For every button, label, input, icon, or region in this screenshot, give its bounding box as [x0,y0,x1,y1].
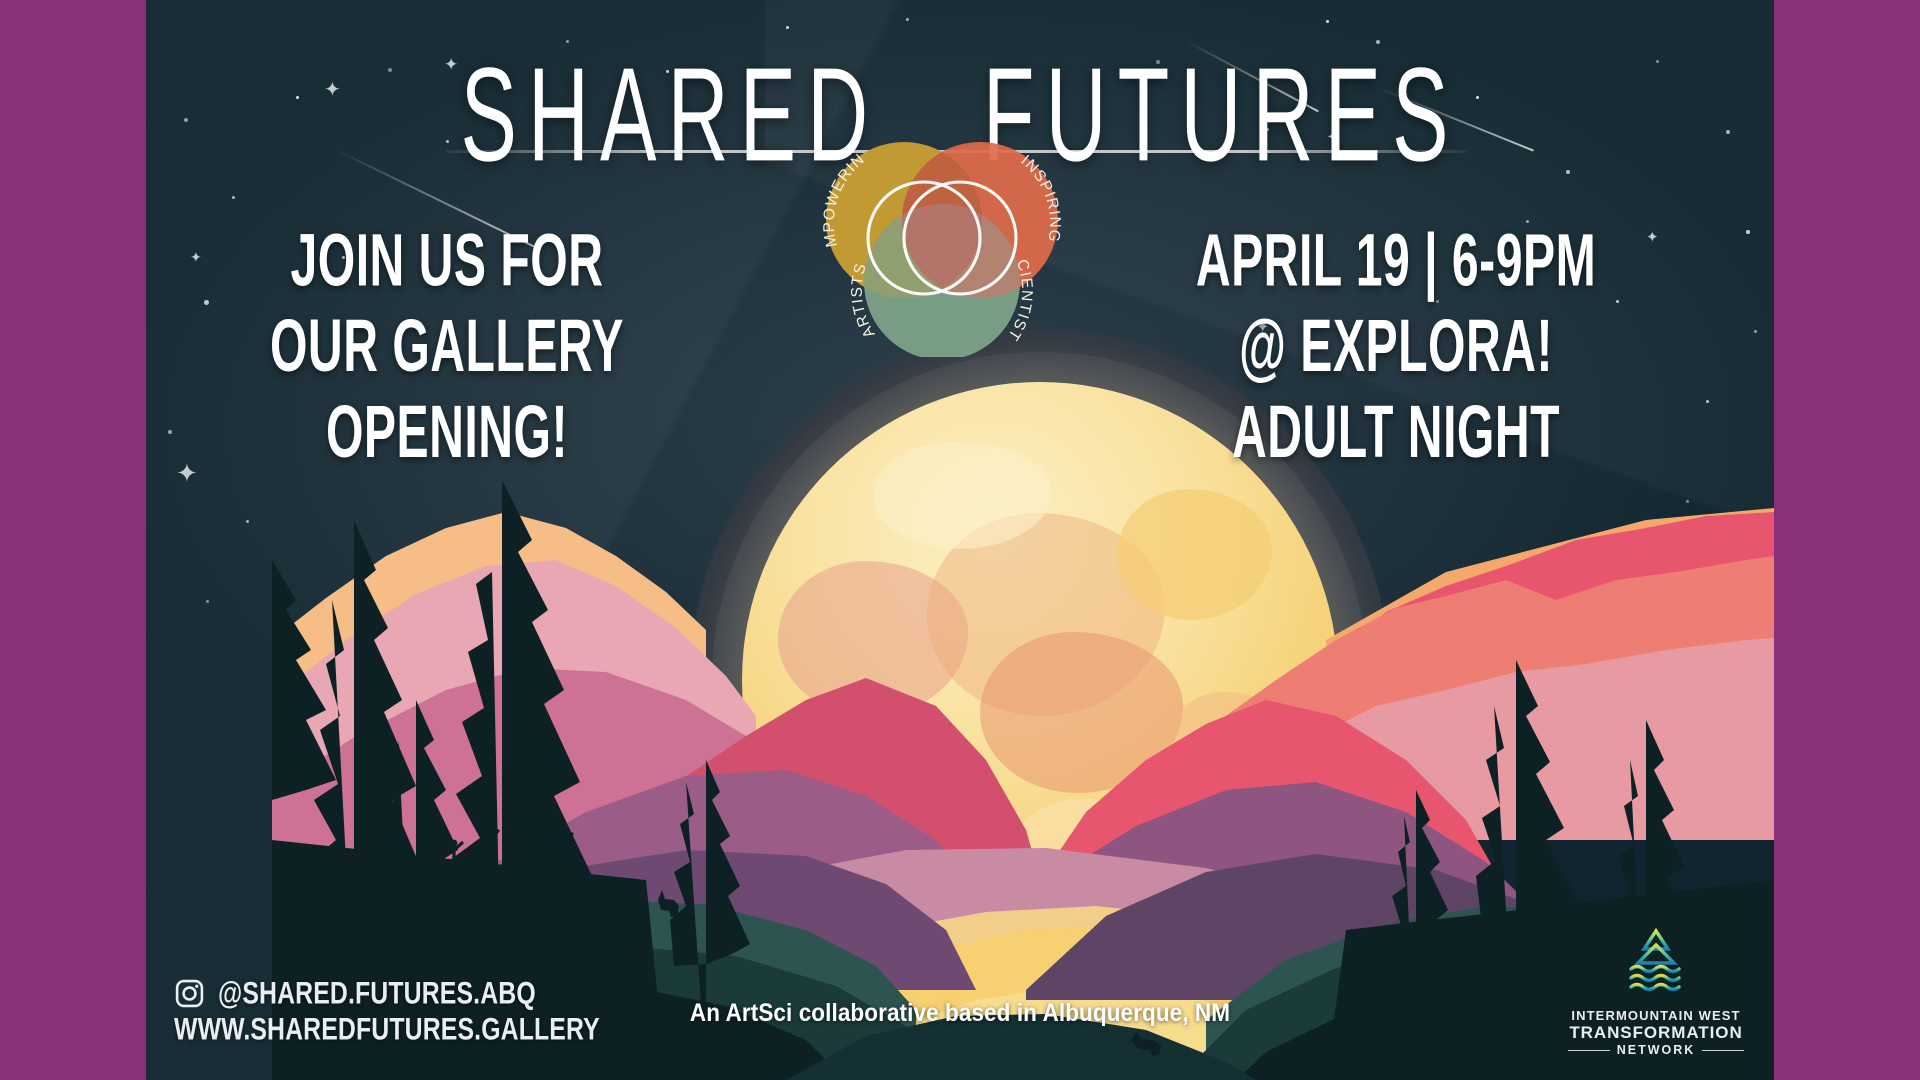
website-row[interactable]: WWW.SHAREDFUTURES.GALLERY [174,1014,637,1045]
sponsor-line-2: TRANSFORMATION [1568,1023,1744,1043]
poster-canvas: ✦✦✦✦✦✦✦ [146,0,1774,1080]
left-line-3: OPENING! [262,389,632,475]
instagram-icon[interactable] [174,978,205,1009]
instagram-handle[interactable]: @SHARED.FUTURES.ABQ [218,975,536,1012]
venn-diagram-logo: EMPOWERING INSPIRING ARTISTS SCIENTISTS [792,142,1092,357]
right-line-1: APRIL 19 | 6-9PM [1181,218,1611,304]
sponsor-logo-block: INTERMOUNTAIN WEST TRANSFORMATION NETWOR… [1568,925,1744,1058]
left-message-block: JOIN US FOR OUR GALLERY OPENING! [262,218,632,475]
sponsor-line-3: NETWORK [1568,1043,1744,1058]
website-url[interactable]: WWW.SHAREDFUTURES.GALLERY [174,1011,600,1048]
instagram-row[interactable]: @SHARED.FUTURES.ABQ [174,978,637,1009]
tree-water-icon [1619,925,1693,995]
poster-frame: ✦✦✦✦✦✦✦ [0,0,1920,1080]
sponsor-line-1: INTERMOUNTAIN WEST [1568,1008,1744,1023]
left-line-2: OUR GALLERY [262,304,632,390]
right-details-block: APRIL 19 | 6-9PM @ EXPLORA! ADULT NIGHT [1181,218,1611,475]
social-block: @SHARED.FUTURES.ABQ WWW.SHAREDFUTURES.GA… [174,978,637,1050]
left-line-1: JOIN US FOR [262,218,632,304]
right-line-2: @ EXPLORA! [1181,304,1611,390]
right-line-3: ADULT NIGHT [1181,389,1611,475]
